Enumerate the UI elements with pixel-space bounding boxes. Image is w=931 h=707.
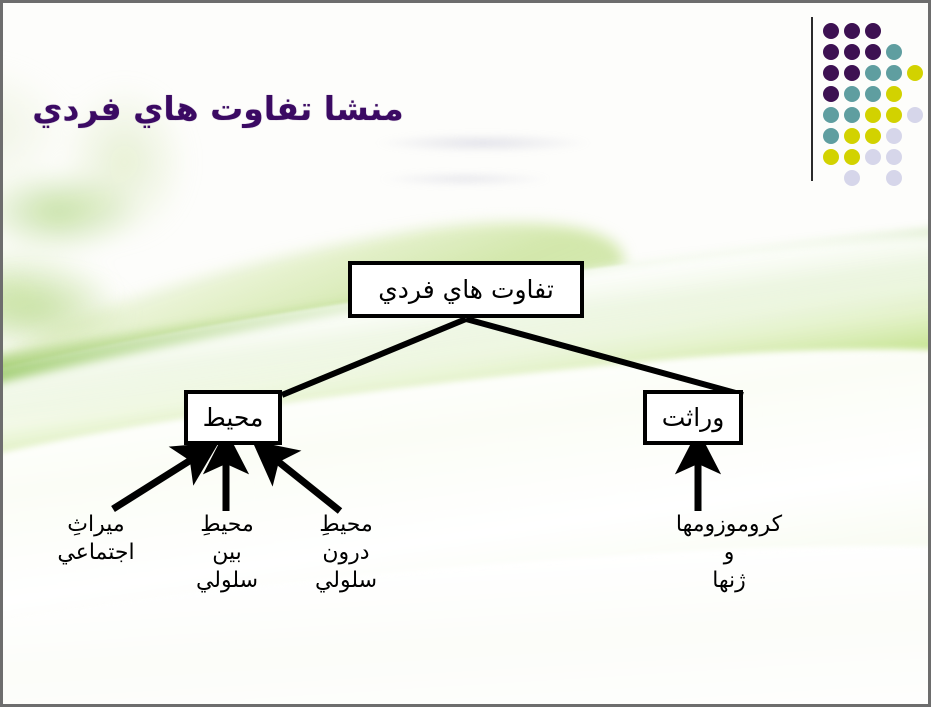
- edge-root-to-environment: [282, 319, 466, 395]
- node-heredity[interactable]: وراثت: [643, 390, 743, 445]
- slide-frame: منشا تفاوت هاي فردي تفاوت هاي: [0, 0, 931, 707]
- tree-diagram: تفاوت هاي فردي محيط وراثت ميراثِ اجتماعي…: [3, 3, 928, 704]
- slide-canvas: منشا تفاوت هاي فردي تفاوت هاي: [3, 3, 928, 704]
- node-environment[interactable]: محيط: [184, 390, 282, 445]
- arrow-intracellular: [275, 459, 340, 511]
- edge-root-to-heredity: [466, 319, 743, 395]
- leaf-intracellular-environment: محيطِ درون سلولي: [291, 511, 401, 595]
- leaf-social-heritage: ميراثِ اجتماعي: [31, 511, 161, 567]
- node-individual-differences[interactable]: تفاوت هاي فردي: [348, 261, 584, 318]
- arrow-social-heritage: [113, 458, 194, 509]
- leaf-chromosomes-and-genes: كروموزومها و ژنها: [639, 511, 819, 595]
- diagram-connectors: [3, 3, 928, 704]
- leaf-intercellular-environment: محيطِ بين سلولي: [175, 511, 279, 595]
